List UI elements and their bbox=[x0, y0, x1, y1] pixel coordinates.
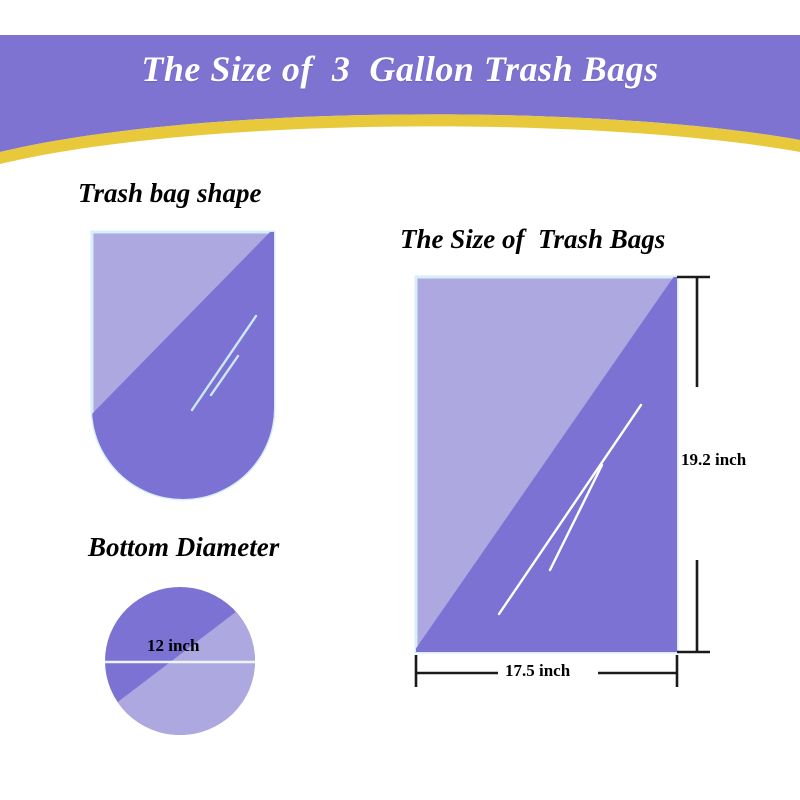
bottom-diameter-circle-icon bbox=[102, 584, 262, 739]
label-bottom-diameter-measurement: 12 inch bbox=[147, 636, 199, 656]
heading-trash-bag-shape: Trash bag shape bbox=[78, 178, 262, 209]
size-diagram-icon bbox=[398, 262, 794, 687]
heading-bottom-diameter: Bottom Diameter bbox=[88, 532, 279, 563]
trash-bag-shape-icon bbox=[88, 228, 278, 503]
infographic-page: The Size of 3 Gallon Trash Bags Trash ba… bbox=[0, 0, 800, 800]
header-banner: The Size of 3 Gallon Trash Bags bbox=[0, 0, 800, 170]
label-width-measurement: 17.5 inch bbox=[505, 661, 570, 681]
label-height-measurement: 19.2 inch bbox=[681, 450, 746, 470]
page-title: The Size of 3 Gallon Trash Bags bbox=[0, 48, 800, 90]
heading-size-of-trash-bags: The Size of Trash Bags bbox=[400, 224, 665, 255]
